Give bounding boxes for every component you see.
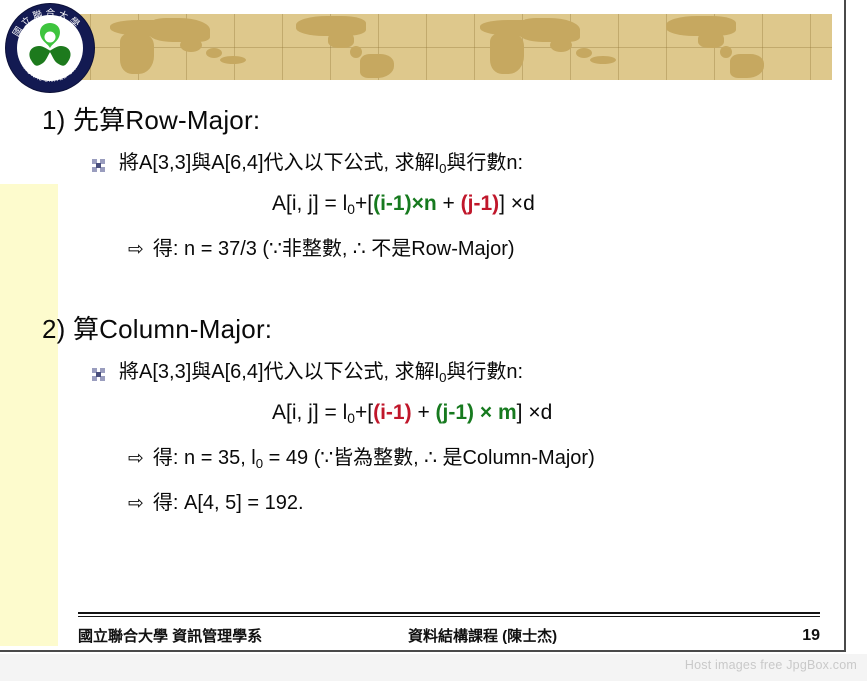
map-landmass xyxy=(698,32,724,48)
svg-text:國立聯合大學: 國立聯合大學 xyxy=(11,7,84,39)
map-landmass xyxy=(550,38,572,52)
map-landmass xyxy=(590,56,616,64)
bullet-1-lead: 將A[3,3]與A[6,4]代入以下公式, 求解l xyxy=(119,152,439,174)
footer-row: 國立聯合大學 資訊管理學系 資料結構課程 (陳士杰) 19 xyxy=(78,625,820,646)
bullet-1-subscript: 0 xyxy=(439,161,446,176)
seal-top-text: 國立聯合大學 xyxy=(11,7,84,39)
section-2-result-1-text: 得: n = 35, l0 = 49 (∵皆為整數, ∴ 是Column-Maj… xyxy=(153,447,595,469)
f2-close: ] ×d xyxy=(517,401,553,424)
bullet-2-lead: 將A[3,3]與A[6,4]代入以下公式, 求解l xyxy=(119,361,439,383)
footer-course: 資料結構課程 (陳士杰) xyxy=(408,625,780,646)
f1-lead-subscript: 0 xyxy=(347,201,355,217)
f1-lead: A[i, j] = l xyxy=(272,192,347,215)
formula-row-major: A[i, j] = l0+[(i-1)×n + (j-1)] ×d xyxy=(272,192,846,216)
f1-plus: + xyxy=(437,192,461,215)
f2-red-term: (i-1) xyxy=(373,401,412,424)
slide-body: 1) 先算Row-Major: 將A[3,3]與A[6,4]代入以下公式, 求解… xyxy=(0,100,846,515)
map-landmass xyxy=(328,32,354,48)
f2-green-term: (j-1) × m xyxy=(436,401,517,424)
result-arrow-icon: ⇨ xyxy=(128,239,144,260)
f1-green-term: (i-1)×n xyxy=(373,192,437,215)
result-arrow-icon: ⇨ xyxy=(128,448,144,469)
square-bullet-icon xyxy=(92,159,105,172)
section-1-result-1-text: 得: n = 37/3 (∵非整數, ∴ 不是Row-Major) xyxy=(153,238,515,260)
map-landmass xyxy=(206,48,222,58)
result-arrow-icon: ⇨ xyxy=(128,493,144,514)
footer-rule-thin xyxy=(78,616,820,617)
section-2-result-2-text: 得: A[4, 5] = 192. xyxy=(153,492,304,514)
map-landmass xyxy=(518,18,580,42)
header-world-map-banner xyxy=(60,14,832,80)
map-landmass xyxy=(490,34,524,74)
f2-plus: + xyxy=(412,401,436,424)
footer-rule-thick xyxy=(78,612,820,614)
university-seal-logo: 國立聯合大學 NATIONAL UNITED UNIVERSITY xyxy=(6,4,94,92)
map-landmass xyxy=(220,56,246,64)
section-2-result-1: ⇨得: n = 35, l0 = 49 (∵皆為整數, ∴ 是Column-Ma… xyxy=(128,441,846,470)
seal-arc-text: 國立聯合大學 NATIONAL UNITED UNIVERSITY xyxy=(6,4,94,92)
section-column-major: 2) 算Column-Major: 將A[3,3]與A[6,4]代入以下公式, … xyxy=(0,309,846,515)
host-watermark: Host images free JpgBox.com xyxy=(685,658,857,672)
footer-page-number: 19 xyxy=(780,627,820,645)
map-landmass xyxy=(350,46,362,58)
bullet-2-tail: 與行數n: xyxy=(446,361,523,383)
map-landmass xyxy=(730,54,764,78)
map-landmass xyxy=(720,46,732,58)
map-landmass xyxy=(576,48,592,58)
bullet-2-subscript: 0 xyxy=(439,370,446,385)
map-landmass xyxy=(120,34,154,74)
formula-column-major: A[i, j] = l0+[(i-1) + (j-1) × m] ×d xyxy=(272,401,846,425)
f2-lead-subscript: 0 xyxy=(347,410,355,426)
section-1-bullet-row: 將A[3,3]與A[6,4]代入以下公式, 求解l0與行數n: xyxy=(92,151,846,176)
map-landmass xyxy=(180,38,202,52)
section-2-bullet-text: 將A[3,3]與A[6,4]代入以下公式, 求解l0與行數n: xyxy=(119,360,523,385)
section-1-result-1: ⇨得: n = 37/3 (∵非整數, ∴ 不是Row-Major) xyxy=(128,232,846,261)
section-2-heading: 2) 算Column-Major: xyxy=(42,309,846,346)
section-2-bullet-row: 將A[3,3]與A[6,4]代入以下公式, 求解l0與行數n: xyxy=(92,360,846,385)
map-landmass xyxy=(360,54,394,78)
f1-close: ] ×d xyxy=(499,192,535,215)
slide-footer: 國立聯合大學 資訊管理學系 資料結構課程 (陳士杰) 19 xyxy=(78,612,820,646)
f1-open-bracket: +[ xyxy=(355,192,373,215)
f2-lead: A[i, j] = l xyxy=(272,401,347,424)
f1-red-term: (j-1) xyxy=(461,192,500,215)
square-bullet-icon xyxy=(92,368,105,381)
bullet-1-tail: 與行數n: xyxy=(446,152,523,174)
section-2-result-2: ⇨得: A[4, 5] = 192. xyxy=(128,486,846,515)
section-1-heading: 1) 先算Row-Major: xyxy=(42,100,846,137)
section-row-major: 1) 先算Row-Major: 將A[3,3]與A[6,4]代入以下公式, 求解… xyxy=(0,100,846,261)
map-landmass xyxy=(148,18,210,42)
slide-canvas: 國立聯合大學 NATIONAL UNITED UNIVERSITY 1) 先算R… xyxy=(0,0,867,681)
f2-open-bracket: +[ xyxy=(355,401,373,424)
section-1-bullet-text: 將A[3,3]與A[6,4]代入以下公式, 求解l0與行數n: xyxy=(119,151,523,176)
section-divider-gap xyxy=(0,261,846,309)
footer-department: 國立聯合大學 資訊管理學系 xyxy=(78,625,408,646)
